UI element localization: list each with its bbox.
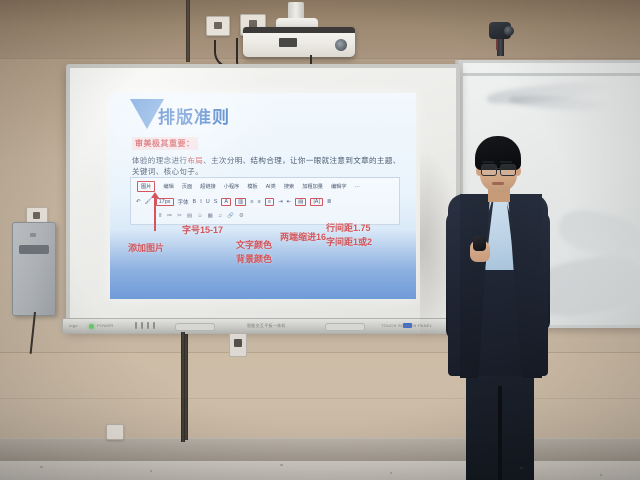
ribbon-tab-edit[interactable]: 编辑 — [163, 183, 173, 190]
link-icon[interactable]: 🔗 — [227, 213, 234, 219]
board-support-pole — [181, 332, 185, 442]
projector-label — [279, 38, 297, 47]
ribbon-tab-editfont[interactable]: 编辑字 — [331, 183, 347, 190]
classroom-photo: 排版准则 审美极其重要： 体验的理念进行布局、主次分明、结构合理，让你一眼就注意… — [0, 0, 640, 480]
music-icon[interactable]: ♫ — [218, 213, 222, 219]
presenter — [430, 136, 560, 480]
presenter-remote[interactable] — [473, 236, 486, 251]
bezel-button[interactable] — [175, 323, 215, 331]
leg-gap — [498, 386, 502, 480]
ribbon-tab-row: 图片 编辑 页面 超链接 小程序 模板 AI类 搜索 加粗加量 编辑字 ⋯ — [131, 180, 399, 193]
eyebrow-right — [500, 161, 512, 163]
embedded-editor-ribbon: 图片 编辑 页面 超链接 小程序 模板 AI类 搜索 加粗加量 编辑字 ⋯ ↶ — [130, 177, 400, 225]
list-icon[interactable]: ≣ — [327, 199, 332, 205]
ribbon-more-icon[interactable]: ⋯ — [355, 184, 360, 190]
ribbon-toolbar-row-1: ↶ 🖌 17px 字体 B I U S A ▥ ≡ ≡ ≡ ⇥ — [131, 195, 399, 209]
bold-icon[interactable]: B — [193, 199, 197, 205]
ribbon-tab-template[interactable]: 模板 — [247, 183, 257, 190]
camera-lens-icon — [504, 26, 514, 36]
annotation-add-image: 添加图片 — [128, 241, 164, 254]
bezel-button[interactable] — [325, 323, 365, 331]
smartboard-screen: 排版准则 审美极其重要： 体验的理念进行布局、主次分明、结构合理，让你一眼就注意… — [70, 68, 456, 326]
eyebrow-left — [482, 161, 494, 163]
ribbon-tab-image[interactable]: 图片 — [137, 181, 155, 192]
annotation-justify-indent: 两端缩进16 — [280, 230, 326, 243]
body-prefix: 体验的理念进行 — [132, 156, 187, 165]
annotation-text-color: 文字颜色 — [236, 238, 272, 251]
mouth — [492, 182, 504, 185]
wall-control-box[interactable] — [12, 222, 56, 316]
light-switch-plate[interactable] — [106, 424, 124, 440]
annotation-arrow — [154, 197, 156, 231]
glasses-bridge — [495, 168, 500, 169]
glasses-lens-left — [481, 164, 497, 176]
bezel-power-text: POWER — [97, 323, 114, 328]
annotation-font-size: 字号15-17 — [182, 223, 223, 236]
ir-sensor-icon — [135, 322, 137, 329]
annotation-line-spacing: 行间距1.75 — [326, 221, 371, 234]
underline-icon[interactable]: U — [206, 199, 210, 205]
image-insert-icon[interactable]: ▤ — [187, 213, 192, 219]
glasses-lens-right — [500, 164, 516, 176]
power-led-icon — [89, 324, 94, 329]
vent-slot — [19, 245, 49, 254]
italic-icon[interactable]: I — [200, 199, 202, 205]
font-family-select[interactable]: 字体 — [178, 198, 189, 206]
highlight-color-icon[interactable]: ▥ — [235, 198, 246, 206]
settings-icon[interactable]: ⚙ — [239, 213, 244, 219]
ribbon-tab-page[interactable]: 页面 — [182, 183, 192, 190]
align-left-icon[interactable]: ≡ — [250, 199, 253, 205]
ceiling-projector — [243, 27, 355, 57]
wall-seam — [0, 58, 640, 59]
letter-spacing-icon[interactable]: |A| — [310, 198, 323, 206]
bezel-panel-label: TOUCH SCREEN PANEL — [381, 323, 432, 328]
projector-lens-icon — [335, 39, 347, 51]
line-spacing-icon[interactable]: ▤ — [295, 198, 306, 206]
erased-marks — [556, 205, 640, 261]
emoji-icon[interactable]: ☺ — [197, 213, 203, 219]
format-painter-icon[interactable]: 🖌 — [145, 199, 152, 205]
smartboard-panel[interactable]: 排版准则 审美极其重要： 体验的理念进行布局、主次分明、结构合理，让你一眼就注意… — [66, 64, 460, 330]
erased-marks — [509, 94, 610, 113]
ir-sensor-icon — [153, 322, 155, 329]
ribbon-tab-bold[interactable]: 加粗加量 — [302, 183, 323, 190]
text-color-icon[interactable]: A — [221, 198, 231, 206]
slide-body-text: 体验的理念进行布局、主次分明、结构合理，让你一眼就注意到文章的主题、关键词、核心… — [132, 155, 404, 177]
annotation-bg-color: 背景颜色 — [236, 252, 272, 265]
annotation-letter-spacing: 字间距1或2 — [326, 235, 372, 248]
slide-title: 排版准则 — [158, 103, 230, 128]
body-highlight: 布局 — [187, 156, 203, 165]
ribbon-tab-miniprogram[interactable]: 小程序 — [224, 183, 240, 190]
ribbon-tab-hyperlink[interactable]: 超链接 — [200, 183, 216, 190]
bezel-model-label: 智能交互平板一体机 — [247, 323, 286, 329]
indent-increase-icon[interactable]: ⇥ — [278, 199, 283, 205]
bezel-brand-text: logo — [69, 323, 78, 328]
whiteboard-top-rail — [463, 73, 640, 76]
projector-top-vent — [243, 27, 355, 33]
card-icon[interactable]: ▦ — [208, 213, 213, 219]
projected-slide: 排版准则 审美极其重要： 体验的理念进行布局、主次分明、结构合理，让你一眼就注意… — [110, 93, 416, 299]
ribbon-tab-ai[interactable]: AI类 — [266, 183, 276, 190]
ribbon-tab-search[interactable]: 搜索 — [284, 183, 294, 190]
undo-icon[interactable]: ↶ — [136, 199, 141, 205]
strikethrough-icon[interactable]: S — [214, 199, 218, 205]
outlet-slot-icon — [234, 339, 242, 347]
bullet-list-icon[interactable]: ≔ — [167, 213, 173, 219]
floor-outlet[interactable] — [229, 333, 247, 357]
wall-outlet-plate — [206, 16, 230, 36]
indent-decrease-icon[interactable]: ⇤ — [287, 199, 292, 205]
align-justify-icon[interactable]: ≡ — [265, 198, 274, 206]
table-icon[interactable]: Ⅱ — [159, 213, 162, 219]
indicator-dot — [30, 233, 36, 237]
cut-icon[interactable]: ✂ — [177, 213, 182, 219]
smartboard-bezel: logo POWER 智能交互平板一体机 TOUCH SCREEN PANEL — [62, 318, 458, 334]
ceiling-conduit — [186, 0, 190, 62]
ir-sensor-icon — [141, 322, 143, 329]
ir-sensor-icon — [147, 322, 149, 329]
align-center-icon[interactable]: ≡ — [258, 199, 261, 205]
font-size-select[interactable]: 17px — [156, 198, 174, 206]
slide-subtitle: 审美极其重要： — [132, 137, 198, 150]
